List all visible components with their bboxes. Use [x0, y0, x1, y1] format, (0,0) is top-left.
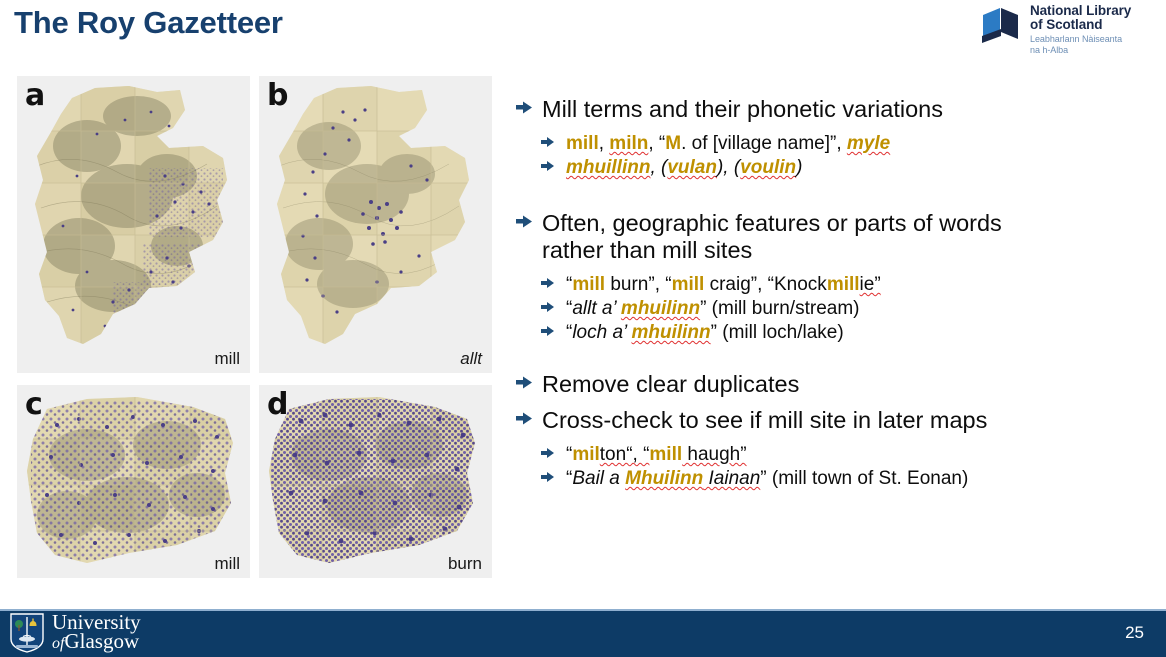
nls-line-1: National Library — [1030, 4, 1131, 18]
panel-caption: mill — [215, 349, 241, 369]
spacer — [516, 180, 1156, 210]
text: burn”, “ — [605, 274, 672, 295]
text: haugh” — [682, 444, 746, 465]
bullet-text: Mill terms and their phonetic variations — [542, 96, 943, 122]
sep: , — [599, 133, 610, 154]
map-southern-scotland-mill — [17, 385, 250, 578]
gloss: ” (mill loch/lake) — [711, 322, 844, 343]
text-iainan: Iainan — [703, 468, 760, 489]
bullet-arrow-icon — [516, 411, 533, 426]
university-of-glasgow-logo: University ofGlasgow — [10, 613, 141, 653]
bullet-remove-duplicates: Remove clear duplicates — [516, 371, 1156, 398]
spacer — [516, 398, 1156, 407]
bullet-bail-a-mhuilinn: “Bail a Mhuilinn Iainan” (mill town of S… — [516, 467, 1156, 491]
national-library-scotland-logo: National Library of Scotland Leabharlann… — [980, 2, 1158, 54]
bullet-milton-mill-haugh: “milton“, “mill haugh” — [516, 443, 1156, 467]
panel-letter: d — [267, 387, 288, 422]
nls-wordmark: National Library of Scotland Leabharlann… — [1030, 2, 1131, 55]
term-mill: mill — [827, 274, 860, 295]
glasgow-of: of — [52, 635, 64, 652]
bullet-cross-check: Cross-check to see if mill site in later… — [516, 407, 1156, 434]
map-scotland-mill — [17, 76, 250, 373]
panel-caption: mill — [215, 554, 241, 574]
term-mhuilinn: Mhuilinn — [625, 468, 703, 489]
panel-letter: c — [25, 387, 43, 422]
open-book-icon — [980, 5, 1024, 45]
village-name-text: . of [village name]”, — [681, 133, 847, 154]
term-mhuilinn: mhuilinn — [631, 322, 710, 343]
map-scotland-allt — [259, 76, 492, 373]
text: loch a’ — [572, 322, 631, 343]
bullet-arrow-icon — [541, 136, 555, 148]
figure-panel-a: a mill — [17, 76, 250, 373]
term-mhuilinn: mhuilinn — [621, 298, 700, 319]
term-miln: miln — [609, 133, 648, 154]
bullet-allt-a-mhuilinn: “allt a’ mhuilinn” (mill burn/stream) — [516, 297, 1156, 321]
bullet-mill-burn-craig: “mill burn”, “mill craig”, “Knockmillie” — [516, 273, 1156, 297]
spacer — [516, 264, 1156, 273]
bullet-arrow-icon — [541, 471, 555, 483]
gloss: ” (mill burn/stream) — [700, 298, 859, 319]
bullet-text-line-1: Often, geographic features or parts of w… — [542, 210, 1002, 236]
figure-panel-b: b allt — [259, 76, 492, 373]
term-mill: mill — [649, 444, 682, 465]
nls-line-2: of Scotland — [1030, 18, 1131, 32]
figure-panel-d: d burn — [259, 385, 492, 578]
term-mill: mill — [566, 133, 599, 154]
bullet-arrow-icon — [541, 160, 555, 172]
term-mill: mill — [672, 274, 705, 295]
bullet-text: Cross-check to see if mill site in later… — [542, 407, 987, 433]
term-mhuillinn: mhuillinn — [566, 157, 650, 178]
nls-gaelic-line-2: na h-Alba — [1030, 45, 1131, 56]
term-mil: mil — [572, 444, 599, 465]
figure-panel-c: c mill — [17, 385, 250, 578]
text: craig”, “Knock — [704, 274, 826, 295]
panel-letter: b — [267, 78, 288, 113]
bullet-mill-variants-2: mhuillinn, (vulan), (voulin) — [516, 156, 1156, 180]
panel-letter: a — [25, 78, 45, 113]
term-myle: myle — [847, 133, 890, 154]
bullet-arrow-icon — [541, 301, 555, 313]
term-mill: mill — [572, 274, 605, 295]
bullet-often-geographic: Often, geographic features or parts of w… — [516, 210, 1156, 264]
glasgow-wordmark: University ofGlasgow — [52, 613, 141, 653]
sep: ), ( — [717, 157, 740, 178]
gloss: ” (mill town of St. Eonan) — [760, 468, 968, 489]
page-title: The Roy Gazetteer — [14, 5, 283, 41]
sep: , ( — [650, 157, 667, 178]
panel-caption: allt — [460, 349, 482, 369]
spacer — [516, 434, 1156, 443]
term-m-abbrev: M — [665, 133, 681, 154]
bullet-text-line-2: rather than mill sites — [542, 237, 752, 263]
bullet-arrow-icon — [516, 100, 533, 115]
text: Bail a — [572, 468, 625, 489]
glasgow-crest-icon — [10, 613, 44, 653]
slide: The Roy Gazetteer National Library of Sc… — [0, 0, 1166, 657]
term-voulin: voulin — [740, 157, 796, 178]
text: ton“, “ — [600, 444, 650, 465]
term-vulan: vulan — [667, 157, 717, 178]
text: ie” — [860, 274, 881, 295]
glasgow-line-2: ofGlasgow — [52, 632, 141, 653]
bullet-loch-a-mhuilinn: “loch a’ mhuilinn” (mill loch/lake) — [516, 321, 1156, 345]
bullet-arrow-icon — [541, 325, 555, 337]
text: allt a’ — [572, 298, 621, 319]
page-number: 25 — [1125, 623, 1144, 643]
bullet-mill-variants-1: mill, miln, “M. of [village name]”, myle — [516, 132, 1156, 156]
sep: , “ — [648, 133, 665, 154]
spacer — [516, 123, 1156, 132]
sep: ) — [796, 157, 802, 178]
panel-caption: burn — [448, 554, 482, 574]
spacer — [516, 345, 1156, 371]
bullet-mill-terms: Mill terms and their phonetic variations — [516, 96, 1156, 123]
bullet-arrow-icon — [541, 447, 555, 459]
footer-bar: University ofGlasgow 25 — [0, 609, 1166, 657]
footer-accent-line — [0, 609, 1166, 611]
bullet-text: Remove clear duplicates — [542, 371, 799, 397]
bullet-arrow-icon — [541, 277, 555, 289]
glasgow-name: Glasgow — [64, 629, 139, 653]
nls-gaelic-line-1: Leabharlann Nàiseanta — [1030, 34, 1131, 45]
bullet-arrow-icon — [516, 375, 533, 390]
bullet-arrow-icon — [516, 214, 533, 229]
map-southern-scotland-burn — [259, 385, 492, 578]
bullet-list: Mill terms and their phonetic variations… — [516, 96, 1156, 491]
